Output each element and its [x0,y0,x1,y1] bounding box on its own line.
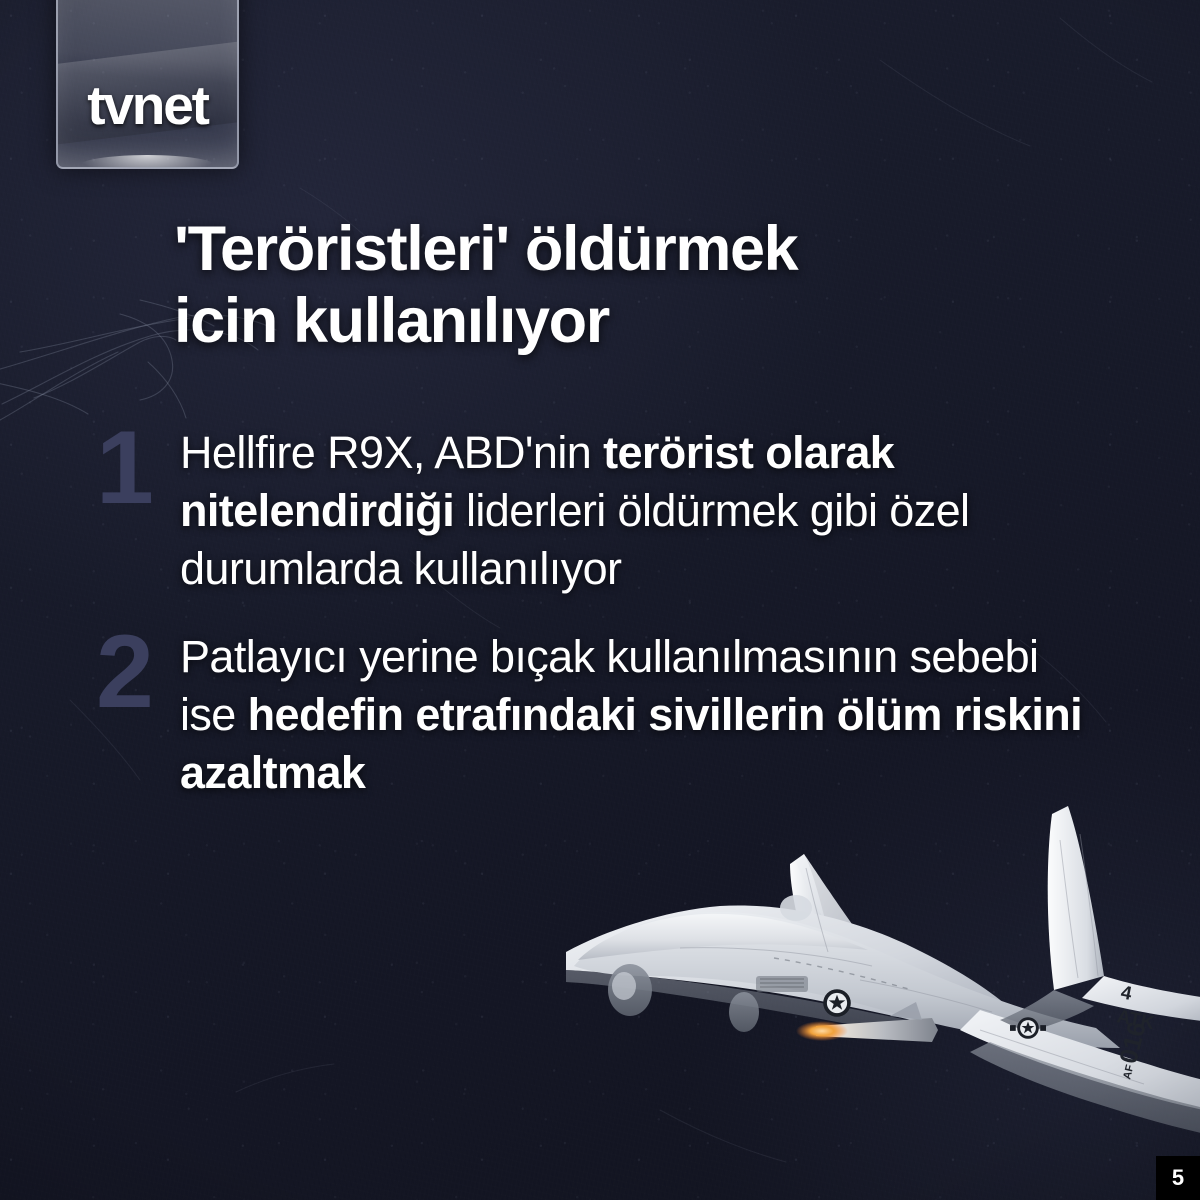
missile-body [816,1018,938,1042]
page-title: 'Teröristleri' öldürmek icin kullanılıyo… [174,213,1054,357]
drone-horizontal-stabilizer [1082,976,1200,1024]
drone-antenna-pod [729,992,759,1032]
svg-text:AF: AF [1121,1063,1136,1080]
points-list: 1 Hellfire R9X, ABD'nin terörist olarak … [96,424,1096,832]
missile-fin [890,1002,922,1020]
drone-serial-prefix-marking: 4 [1119,982,1134,1005]
drone-upper-fin-shade [796,854,878,972]
point-number-marker: 2 [96,620,162,724]
usaf-roundel-secondary-icon [1010,1017,1046,1039]
drone-engine-grille [756,976,808,992]
point-text: Patlayıcı yerine bıçak kullanılmasının s… [180,628,1096,802]
mq9-reaper-drone-icon: 4 ATK AF 016 [560,780,1200,1200]
drone-panel-lines [680,834,1144,1084]
point-text: Hellfire R9X, ABD'nin terörist olarak ni… [180,424,1096,598]
drone-upper-fin [790,854,832,968]
infographic-slide: tvnet 'Teröristleri' öldürmek icin kulla… [0,0,1200,1200]
drone-tail-boom [970,1042,1200,1144]
tvnet-logo-wordmark: tvnet [58,73,237,137]
drone-illustration: 4 ATK AF 016 [560,780,1200,1200]
drone-left-wing-underside [566,970,926,1036]
drone-right-wing [960,1010,1200,1120]
missile-flare [796,1021,848,1041]
drone-left-wing [566,905,1012,1022]
drone-sensor-lens [612,972,636,1000]
tvnet-logo-badge[interactable]: tvnet [56,0,239,169]
svg-text:016: 016 [1114,1019,1151,1066]
list-item: 2 Patlayıcı yerine bıçak kullanılmasının… [96,628,1096,802]
drone-fin-root [822,948,940,981]
drone-rivet-lines [774,958,912,990]
point-segment-plain: Hellfire R9X, ABD'nin [180,427,603,478]
drone-vertical-stabilizer [1048,806,1104,990]
drone-satcom-dome [780,895,812,921]
missile [796,1002,938,1042]
usaf-roundel-icon [823,989,851,1017]
drone-fuselage-top [578,914,868,960]
drone-squadron-marking: ATK [1115,1006,1156,1034]
drone-tail-root [1000,990,1094,1032]
page-number-badge: 5 [1156,1156,1200,1200]
drone-tail-code-marking: AF 016 [1111,1019,1152,1082]
point-segment-bold: hedefin etrafındaki sivillerin ölüm risk… [180,689,1082,798]
drone-sensor-turret [608,964,652,1016]
point-number-marker: 1 [96,416,162,520]
list-item: 1 Hellfire R9X, ABD'nin terörist olarak … [96,424,1096,598]
drone-fuselage [574,912,1120,1048]
